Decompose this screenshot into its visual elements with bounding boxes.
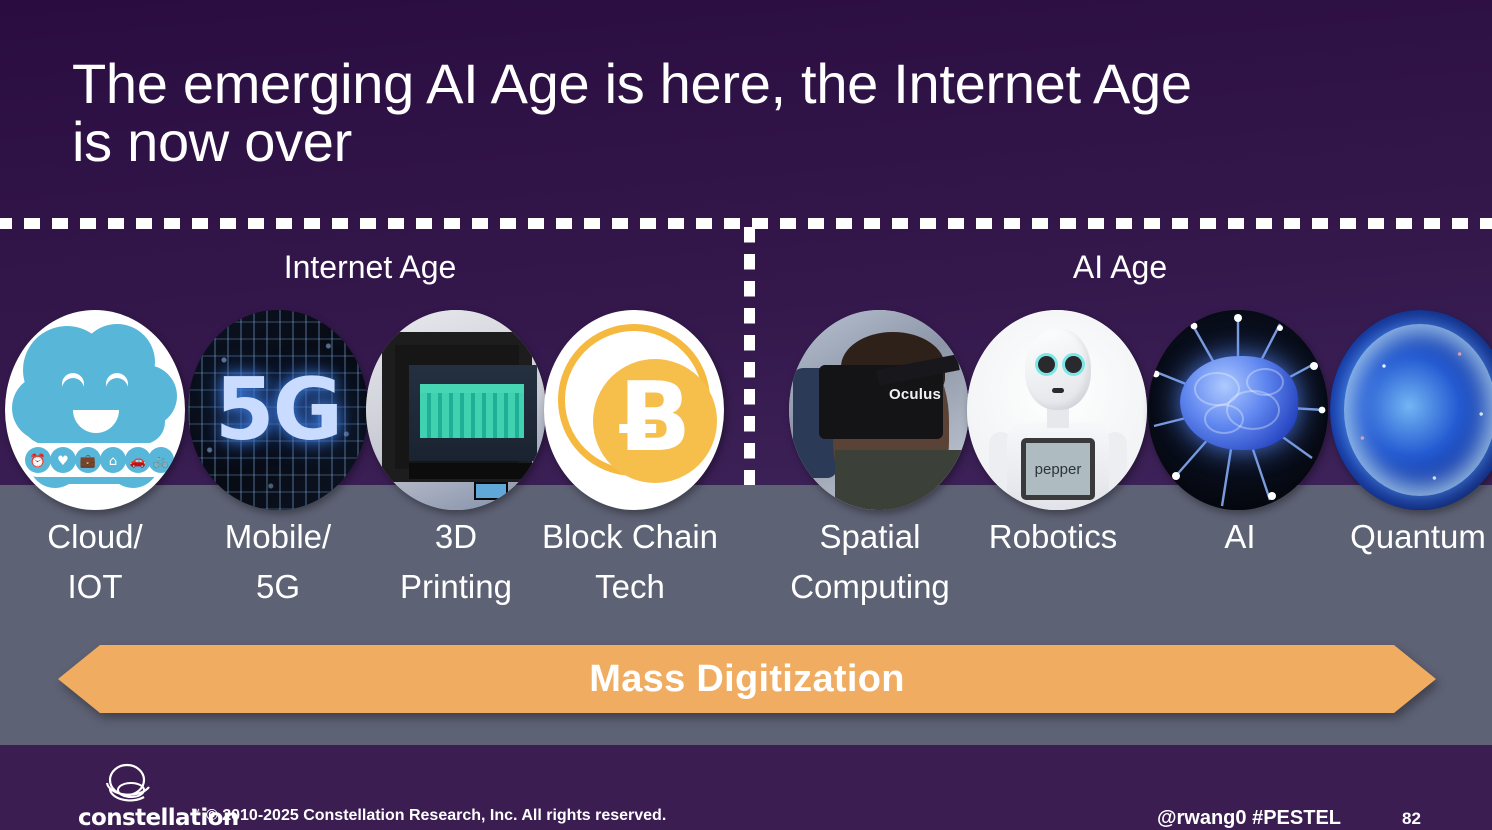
printer-base	[409, 463, 537, 479]
robot-head	[1025, 328, 1091, 410]
printer-frame	[382, 332, 532, 482]
5g-label-in-icon: 5G	[188, 310, 368, 510]
svg-text:🚲: 🚲	[153, 454, 169, 469]
banner-arrow-shape: Mass Digitization	[58, 645, 1436, 713]
coin-face: Ƀ	[593, 359, 717, 483]
tech-label-spatial-computing: Spatial Computing	[780, 512, 960, 611]
oculus-brand-text: Oculus	[889, 386, 941, 403]
constellation-sphere-icon	[100, 763, 154, 807]
svg-text:♥: ♥	[57, 454, 69, 469]
3d-printer-photo-icon	[366, 310, 546, 510]
slide-canvas: The emerging AI Age is here, the Interne…	[0, 0, 1492, 830]
robot-eye-right	[1065, 356, 1082, 373]
bitcoin-coin-icon: Ƀ	[544, 310, 724, 510]
technology-icon-row: ⏰♥ 💼⌂ 🚗🚲 5G	[0, 310, 1492, 510]
robot-tablet-label: pepper	[1026, 443, 1090, 495]
tech-label-block-chain-tech: Block Chain Tech	[540, 512, 720, 611]
tech-label-mobile-5g: Mobile/ 5G	[188, 512, 368, 611]
mass-digitization-banner: Mass Digitization	[58, 645, 1436, 713]
section-heading-internet-age: Internet Age	[190, 249, 550, 286]
tech-label-cloud-iot: Cloud/ IOT	[5, 512, 185, 611]
banner-label: Mass Digitization	[589, 658, 904, 701]
robot-chest-tablet: pepper	[1021, 438, 1095, 500]
copyright-text: © 2010-2025 Constellation Research, Inc.…	[206, 807, 666, 825]
vr-headset-photo-icon: Oculus	[789, 310, 969, 510]
slide-footer: constellation ™ © 2010-2025 Constellatio…	[0, 745, 1492, 830]
quantum-energy-sphere-icon	[1330, 310, 1492, 510]
tech-label-quantum: Quantum	[1328, 512, 1492, 562]
printer-screen	[474, 482, 508, 500]
social-handle: @rwang0 #PESTEL	[1157, 807, 1341, 830]
vr-user-torso	[835, 450, 965, 510]
printed-object	[420, 384, 524, 438]
svg-text:⌂: ⌂	[109, 454, 117, 469]
tech-label-ai: AI	[1150, 512, 1330, 562]
robot-mouth	[1052, 388, 1064, 393]
svg-text:🚗: 🚗	[130, 454, 146, 469]
bitcoin-symbol: Ƀ	[619, 371, 691, 466]
printer-button	[515, 484, 528, 497]
smiling-cloud-iot-icon: ⏰♥ 💼⌂ 🚗🚲	[5, 310, 185, 510]
tech-label-3d-printing: 3D Printing	[366, 512, 546, 611]
5g-circuit-board-icon: 5G	[188, 310, 368, 510]
brain-fold	[1246, 368, 1284, 396]
pepper-robot-photo-icon: pepper	[967, 310, 1147, 510]
brain-fold	[1204, 404, 1244, 434]
robot-eye-left	[1038, 356, 1055, 373]
svg-text:⏰: ⏰	[30, 452, 46, 469]
quantum-halo	[1344, 324, 1492, 496]
technology-label-row: Cloud/ IOT Mobile/ 5G 3D Printing Block …	[0, 512, 1492, 622]
trademark-symbol: ™	[191, 807, 200, 817]
svg-text:💼: 💼	[80, 454, 96, 469]
tech-label-robotics: Robotics	[963, 512, 1143, 562]
coin-outer-ring: Ƀ	[558, 324, 710, 476]
page-number: 82	[1402, 809, 1421, 829]
section-heading-ai-age: AI Age	[960, 249, 1280, 286]
constellation-logo: constellation ™	[78, 763, 196, 825]
page-title: The emerging AI Age is here, the Interne…	[72, 55, 1362, 171]
brain-shape	[1180, 356, 1298, 450]
glowing-brain-icon	[1148, 310, 1328, 510]
cloud-face-svg: ⏰♥ 💼⌂ 🚗🚲	[5, 310, 185, 510]
